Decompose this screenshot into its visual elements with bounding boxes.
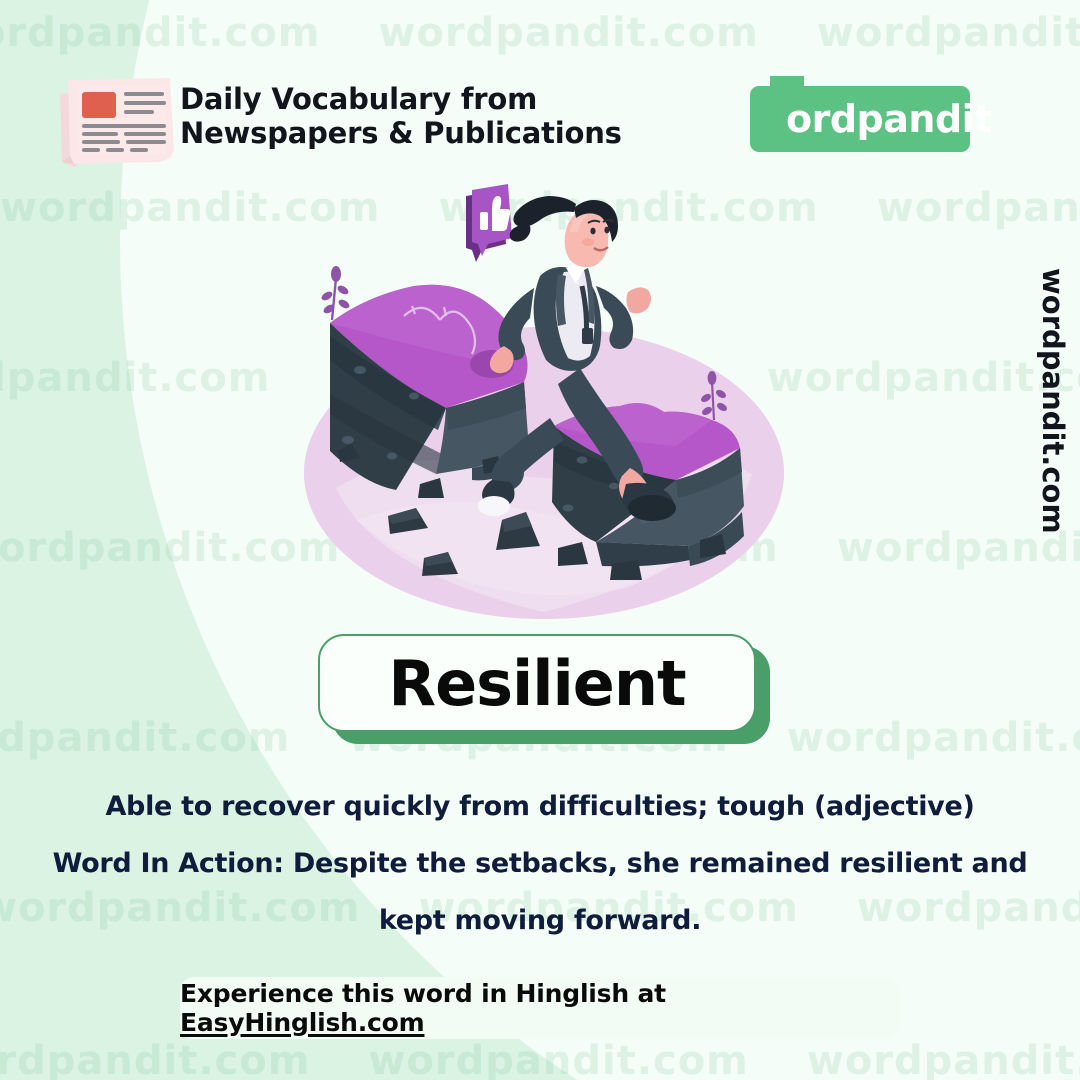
vocabulary-word: Resilient xyxy=(388,647,685,720)
vertical-site-url: wordpandit.com xyxy=(1036,268,1070,534)
footer-text: Experience this word in Hinglish at Easy… xyxy=(180,979,900,1037)
definition-block: Able to recover quickly from difficultie… xyxy=(28,778,1052,949)
word-card-body: Resilient xyxy=(318,634,756,732)
page-title: Daily Vocabulary from Newspapers & Publi… xyxy=(180,82,622,150)
newspaper-icon xyxy=(52,72,180,167)
header-title-line-2: Newspapers & Publications xyxy=(180,116,622,150)
header-title-line-1: Daily Vocabulary from xyxy=(180,82,622,116)
brand-logo-text: ordpandit xyxy=(786,97,992,141)
footer-cta-card[interactable]: Experience this word in Hinglish at Easy… xyxy=(180,977,900,1039)
wordpandit-logo[interactable]: ordpandit xyxy=(750,86,970,152)
word-card: Resilient xyxy=(318,634,770,744)
word-in-action-line-2: kept moving forward. xyxy=(28,892,1052,949)
word-in-action-line-1: Word In Action: Despite the setbacks, sh… xyxy=(28,835,1052,892)
woman-leaping-across-rocks-illustration xyxy=(296,168,786,630)
easyhinglish-link[interactable]: EasyHinglish.com xyxy=(180,1008,424,1037)
header: Daily Vocabulary from Newspapers & Publi… xyxy=(0,0,1080,175)
watermark-row: wordpandit.comwordpandit.comwordpandit.c… xyxy=(0,1038,1080,1080)
vocabulary-card-canvas: wordpandit.comwordpandit.comwordpandit.c… xyxy=(0,0,1080,1080)
footer-prefix: Experience this word in Hinglish at xyxy=(180,979,666,1008)
definition-line: Able to recover quickly from difficultie… xyxy=(28,778,1052,835)
